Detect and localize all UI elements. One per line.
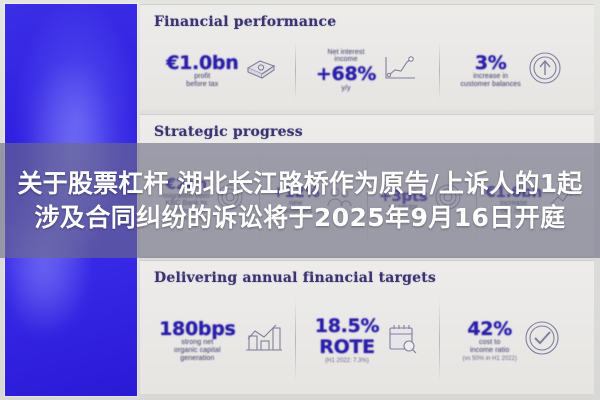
headline-line-2: 涉及合同纠纷的诉讼将于2025年9月16日开庭 [35,202,566,234]
metric-net-interest-income: Net interest income +68% y/y [295,37,440,104]
metric-text: Net interest income +68% y/y [316,49,376,92]
screenshot-canvas: Financial performance €1.0bn profit befo… [0,0,600,400]
card-title-strategic: Strategic progress [154,124,303,140]
targets-metrics-row: 180bps strong net organic capital genera… [150,293,584,388]
annual-targets-card: Delivering annual financial targets 180b… [140,260,594,394]
metric-text: 42% cost to income ratio (vs 50% in H1 2… [462,319,516,362]
metric-value: +68% [316,64,376,85]
metric-note: (vs 50% in H1 2022) [462,356,516,362]
card-title-financial: Financial performance [154,14,336,30]
up-arrow-circle-icon [527,50,563,91]
metric-value: 18.5% [315,316,379,337]
metric-value: 3% [460,53,520,74]
financial-metrics-row: €1.0bn profit before tax [150,37,584,104]
metric-label-rote: ROTE [315,337,379,358]
metric-text: 180bps strong net organic capital genera… [159,319,235,362]
metric-cost-to-income-ratio: 42% cost to income ratio (vs 50% in H1 2… [439,293,584,388]
calendar-search-icon [385,321,419,360]
metric-sub-2: customer balances [460,81,520,89]
line-chart-icon [382,53,418,88]
metric-organic-capital-generation: 180bps strong net organic capital genera… [150,293,295,388]
metric-text: €1.0bn profit before tax [166,53,238,89]
financial-performance-card: Financial performance €1.0bn profit befo… [140,4,594,110]
cash-stack-icon [244,55,278,86]
card-title-targets: Delivering annual financial targets [154,270,436,286]
metric-value: 42% [462,319,516,340]
metric-sub: profit [166,73,238,81]
metric-sub-2: income ratio [462,347,516,355]
metric-sub: y/y [316,85,376,93]
metric-sub: strong net [159,339,235,347]
bar-chart-icon [242,320,286,361]
metric-sub-2: before tax [166,81,238,89]
metric-customer-balances: 3% increase in customer balances [439,37,584,104]
metric-sub-2: organic capital [159,347,235,355]
metric-profit-before-tax: €1.0bn profit before tax [150,37,295,104]
metric-sub: cost to [462,339,516,347]
headline-line-1: 关于股票杠杆 湖北长江路桥作为原告/上诉人的1起 [17,168,582,200]
metric-value: €1.0bn [166,53,238,74]
metric-sub-3: generation [159,355,235,363]
metric-value: 180bps [159,319,235,340]
metric-rote: 18.5% ROTE (H1 2022: 7.3%) [295,293,440,388]
check-circle-icon [523,319,561,362]
headline-overlay-band: 关于股票杠杆 湖北长江路桥作为原告/上诉人的1起 涉及合同纠纷的诉讼将于2025… [0,143,600,258]
metric-text: 3% increase in customer balances [460,53,520,89]
metric-note: (H1 2022: 7.3%) [315,358,379,364]
metric-text: 18.5% ROTE (H1 2022: 7.3%) [315,316,379,365]
metric-sub: increase in [460,73,520,81]
